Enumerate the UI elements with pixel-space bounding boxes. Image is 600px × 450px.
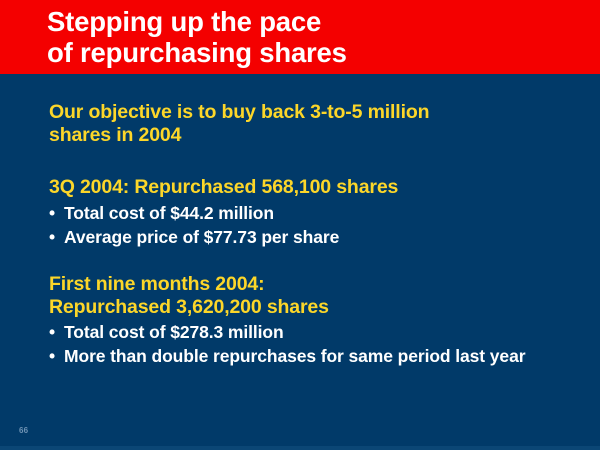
slide-title: Stepping up the pace of repurchasing sha… bbox=[47, 6, 347, 68]
bullet-dot-icon: • bbox=[49, 226, 55, 249]
title-banner: Stepping up the pace of repurchasing sha… bbox=[0, 0, 600, 74]
first-nine-months-heading: First nine months 2004: Repurchased 3,62… bbox=[49, 273, 579, 318]
list-item: • Average price of $77.73 per share bbox=[49, 226, 579, 249]
bottom-accent-strip bbox=[0, 446, 600, 450]
page-number: 66 bbox=[19, 426, 28, 435]
presentation-slide: Stepping up the pace of repurchasing sha… bbox=[0, 0, 600, 450]
list-item-label: Average price of $77.73 per share bbox=[64, 227, 339, 247]
content-block-objective: Our objective is to buy back 3-to-5 mill… bbox=[49, 101, 579, 146]
list-item-label: Total cost of $44.2 million bbox=[64, 203, 274, 223]
bullet-dot-icon: • bbox=[49, 321, 55, 344]
content-block-first-nine-months: First nine months 2004: Repurchased 3,62… bbox=[49, 273, 579, 368]
bullet-dot-icon: • bbox=[49, 345, 55, 368]
bullet-dot-icon: • bbox=[49, 202, 55, 225]
objective-heading: Our objective is to buy back 3-to-5 mill… bbox=[49, 101, 579, 146]
list-item: • Total cost of $44.2 million bbox=[49, 202, 579, 225]
third-quarter-heading: 3Q 2004: Repurchased 568,100 shares bbox=[49, 176, 579, 199]
first-nine-months-bullet-list: • Total cost of $278.3 million • More th… bbox=[49, 321, 579, 368]
list-item: • More than double repurchases for same … bbox=[49, 345, 579, 368]
list-item-label: Total cost of $278.3 million bbox=[64, 322, 284, 342]
third-quarter-bullet-list: • Total cost of $44.2 million • Average … bbox=[49, 202, 579, 249]
list-item: • Total cost of $278.3 million bbox=[49, 321, 579, 344]
list-item-label: More than double repurchases for same pe… bbox=[64, 346, 525, 366]
slide-body: Our objective is to buy back 3-to-5 mill… bbox=[0, 74, 600, 450]
content-block-third-quarter: 3Q 2004: Repurchased 568,100 shares • To… bbox=[49, 176, 579, 249]
